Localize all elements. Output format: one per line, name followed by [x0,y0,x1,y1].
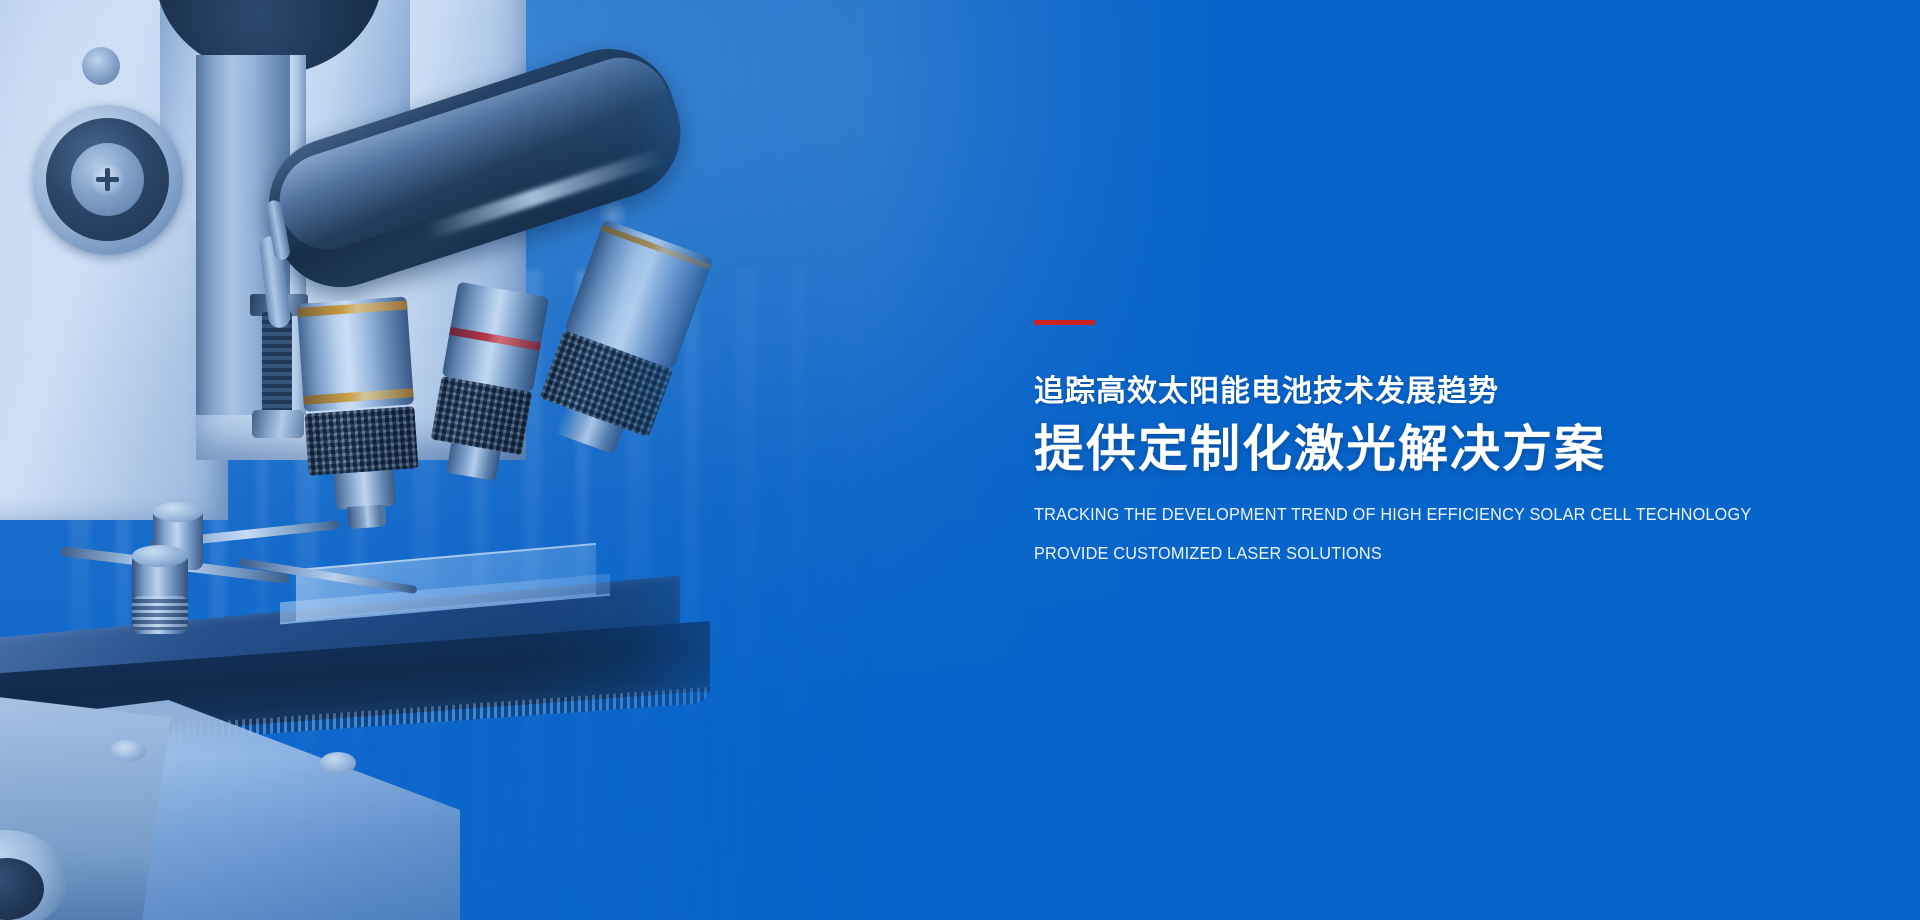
hero-content: 追踪高效太阳能电池技术发展趋势 提供定制化激光解决方案 TRACKING THE… [1034,320,1854,563]
subline-primary: TRACKING THE DEVELOPMENT TREND OF HIGH E… [1034,506,1797,524]
microscope-photo [0,0,900,920]
photo-blue-overlay [0,0,900,920]
hero-banner: 追踪高效太阳能电池技术发展趋势 提供定制化激光解决方案 TRACKING THE… [0,0,1920,920]
headline-small: 追踪高效太阳能电池技术发展趋势 [1034,373,1854,411]
headline-large: 提供定制化激光解决方案 [1034,419,1854,480]
subline-secondary: PROVIDE CUSTOMIZED LASER SOLUTIONS [1034,545,1797,563]
accent-bar [1034,320,1095,325]
